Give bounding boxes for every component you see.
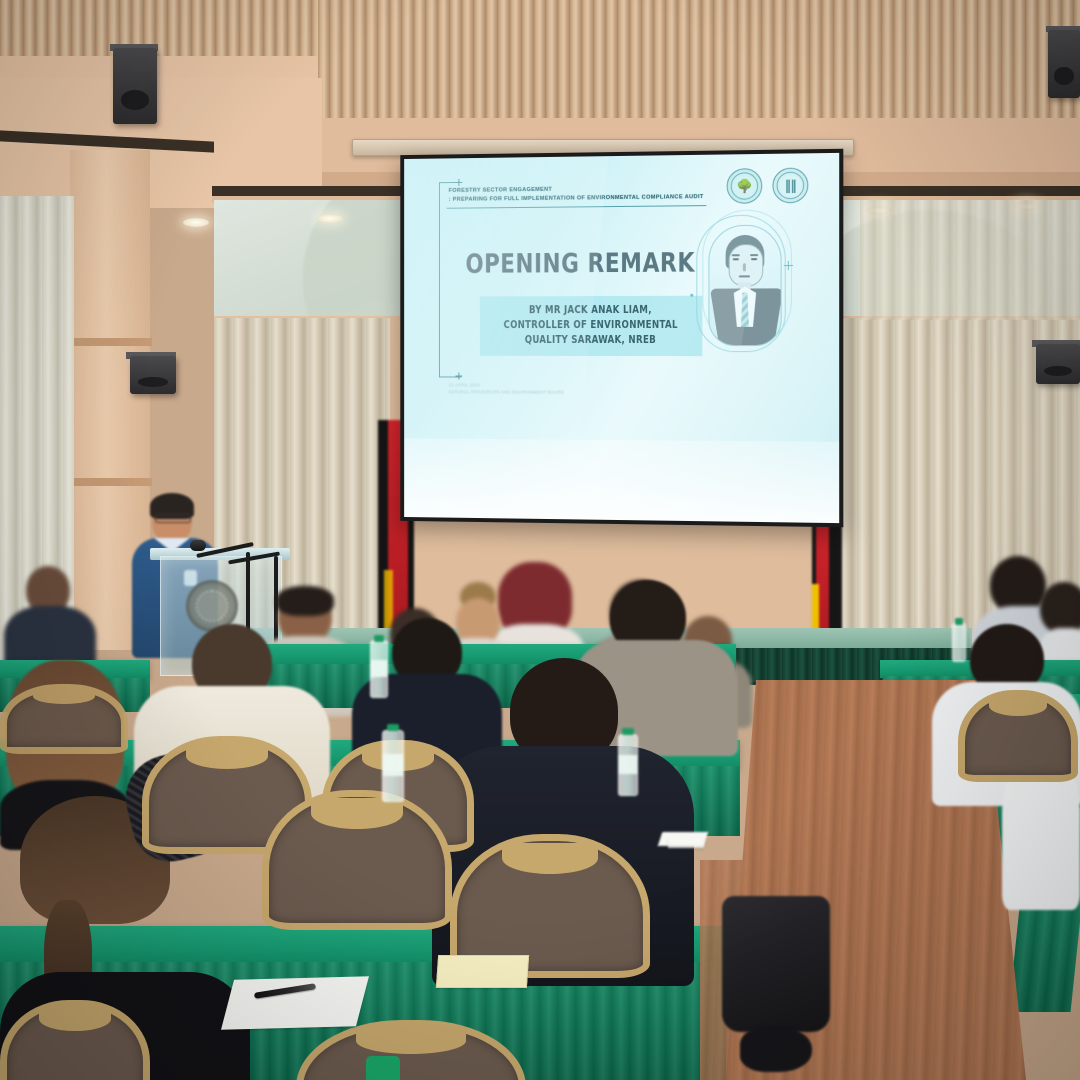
hair <box>276 586 334 616</box>
chair-notch <box>311 798 402 829</box>
portrait-brow-right <box>750 254 758 256</box>
paper-sheet[interactable] <box>221 976 369 1029</box>
water-bottle-1[interactable] <box>370 640 388 698</box>
paper-sheet-right-table[interactable] <box>668 838 704 848</box>
bottle-label <box>618 755 638 774</box>
nreb-logo: 🌳 <box>727 168 763 204</box>
column-band-2 <box>70 478 152 486</box>
bottle-body <box>952 622 966 662</box>
portrait-face <box>729 244 764 287</box>
chair-row-back-left[interactable] <box>0 684 128 754</box>
chair-mid-1[interactable] <box>262 790 452 930</box>
ceiling-slat-panel-upper-left <box>318 0 378 122</box>
speaker-portrait-illustration <box>700 220 787 350</box>
backpack[interactable] <box>722 896 830 1032</box>
portrait-plate <box>708 225 781 347</box>
ceiling-slat-panel-left <box>0 0 320 58</box>
chair-front-left[interactable] <box>0 1000 150 1080</box>
forestry-logo-glyph: ∥∥ <box>773 169 807 203</box>
water-bottle-3[interactable] <box>618 734 638 796</box>
chair-notch <box>356 1027 466 1053</box>
wall-speaker-left <box>113 48 157 124</box>
projection-screen: FORESTRY SECTOR ENGAGEMENT : PREPARING F… <box>400 149 843 528</box>
chair-notch <box>39 1007 111 1031</box>
nreb-logo-glyph: 🌳 <box>728 169 762 203</box>
curtain-behind-screen <box>860 200 1080 320</box>
bottle-cap <box>955 618 963 625</box>
portrait-nose <box>743 263 746 271</box>
bottle-cap <box>387 724 399 731</box>
water-bottle-4[interactable] <box>952 622 966 662</box>
bottle-cap <box>374 635 384 642</box>
wall-speaker-left-lower <box>130 356 176 394</box>
chair-notch <box>33 688 94 703</box>
downlight-1 <box>183 218 209 227</box>
portrait-accent-cross-right <box>784 265 793 266</box>
portrait-mouth <box>739 275 750 277</box>
wall-speaker-right <box>1048 30 1080 98</box>
bottle-label <box>382 754 404 776</box>
water-bottle-2[interactable] <box>382 730 404 802</box>
ceiling-slat-panel-main <box>318 0 1080 124</box>
forestry-department-logo: ∥∥ <box>772 168 808 204</box>
bottle-label <box>370 660 388 677</box>
downlight-2 <box>317 214 343 223</box>
wall-speaker-right-lower <box>1036 344 1080 384</box>
note-card[interactable] <box>436 955 529 988</box>
chair-front-center[interactable] <box>296 1020 526 1080</box>
portrait-accent-dot-left <box>690 294 693 297</box>
chair-right-block-1[interactable] <box>958 690 1078 782</box>
shoe <box>740 1026 812 1072</box>
portrait-brow-left <box>732 254 740 256</box>
conference-hall-photo: FORESTRY SECTOR ENGAGEMENT : PREPARING F… <box>0 0 1080 1080</box>
chair-notch <box>186 743 268 769</box>
water-bottle-cap-front[interactable] <box>366 1056 400 1080</box>
column-band-1 <box>70 338 152 346</box>
chair-notch <box>989 696 1047 716</box>
bottle-cap <box>622 728 633 735</box>
presenter-glasses <box>155 514 191 523</box>
microphone-head <box>190 540 206 551</box>
